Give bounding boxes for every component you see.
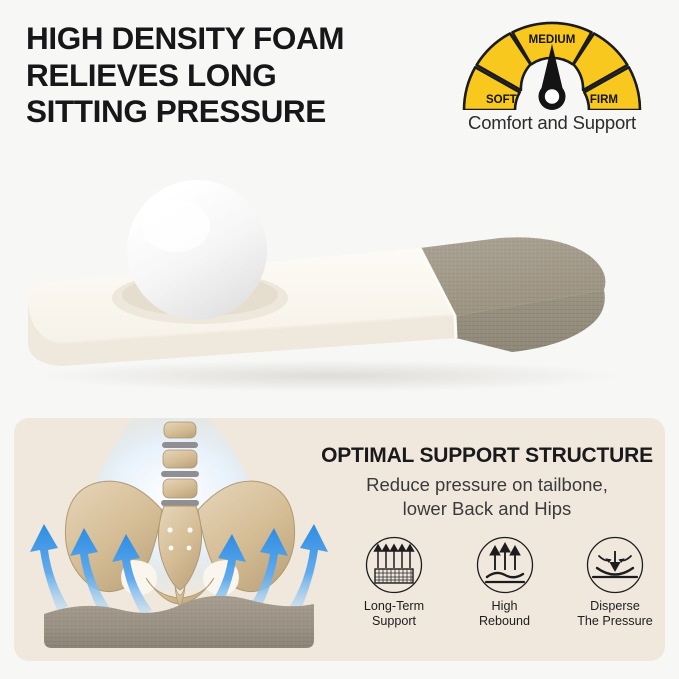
feature-label: High Rebound (479, 599, 530, 630)
dispersing-arrows-icon (586, 536, 644, 594)
feature-label: Long-Term Support (364, 599, 424, 630)
panel-subtitle: Reduce pressure on tailbone, lower Back … (309, 473, 665, 520)
firmness-gauge: SOFT MEDIUM FIRM Comfort and Support (452, 16, 652, 144)
panel-title: Optimal Support Structure (309, 444, 665, 468)
feature-long-term-support: Long-Term Support (344, 536, 444, 630)
wave-up-arrows-icon (476, 536, 534, 594)
pelvis-pressure-diagram (14, 418, 344, 661)
gauge-label-soft: SOFT (486, 94, 517, 106)
gauge-caption: Comfort and Support (452, 112, 652, 134)
gauge-label-firm: FIRM (590, 94, 618, 106)
grid-up-arrows-icon (365, 536, 423, 594)
gauge-dial-icon: SOFT MEDIUM FIRM (452, 16, 652, 116)
gauge-label-medium: MEDIUM (529, 34, 576, 46)
foam-cushion-photo (0, 138, 679, 400)
feature-high-rebound: High Rebound (455, 536, 555, 630)
spine-illustration (161, 422, 199, 506)
feature-list: Long-Term Support High Rebound (344, 536, 665, 630)
page-title: High Density Foam Relieves Long Sitting … (26, 20, 446, 130)
feature-disperse-the-pressure: Disperse The Pressure (565, 536, 665, 630)
feature-label: Disperse The Pressure (577, 599, 653, 630)
optimal-support-panel: Optimal Support Structure Reduce pressur… (14, 418, 665, 661)
pressure-ball (127, 180, 267, 320)
